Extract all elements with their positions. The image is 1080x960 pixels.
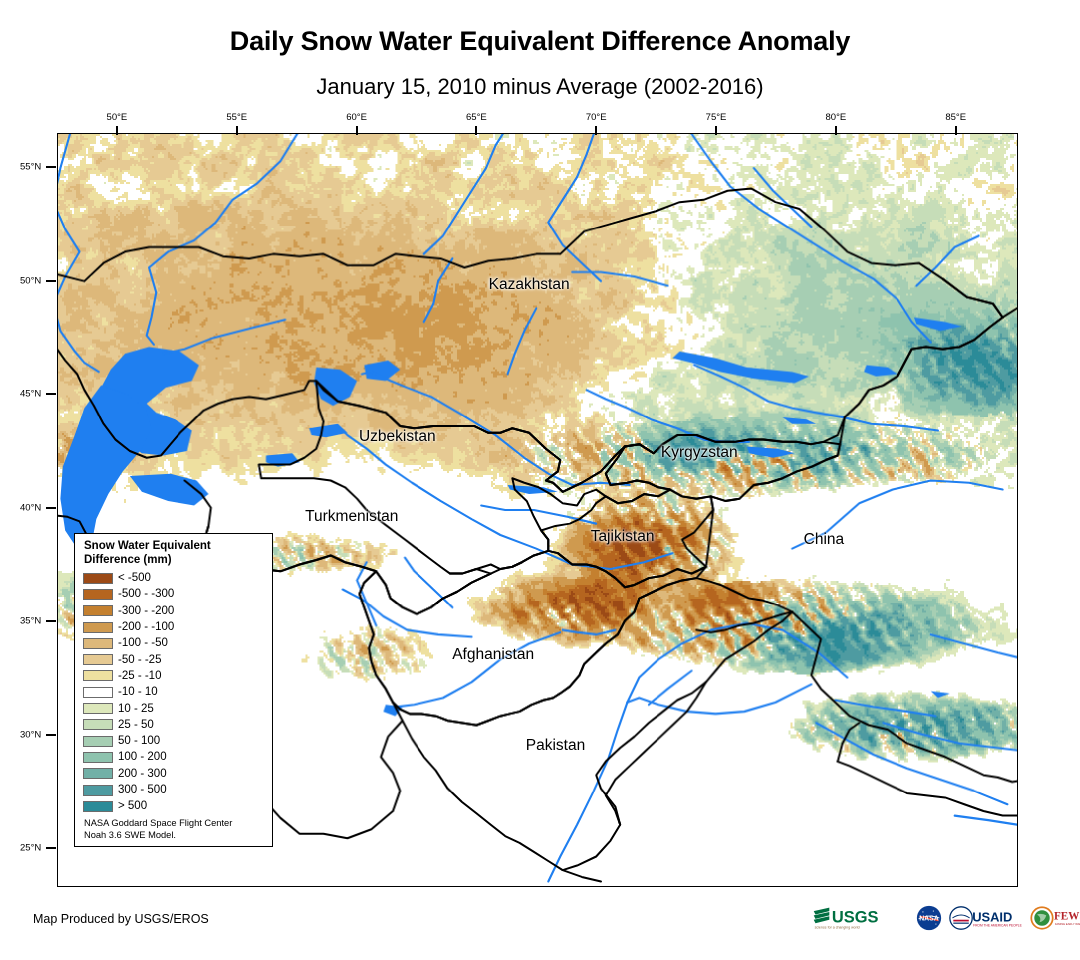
page-subtitle: January 15, 2010 minus Average (2002-201… <box>0 74 1080 100</box>
legend-title-line1: Snow Water Equivalent <box>84 540 265 554</box>
lat-label-50: 50°N <box>20 275 41 286</box>
fewsnet-logo: FEWS NET FAMINE EARLY WARNING SYSTEMS NE… <box>1030 905 1080 931</box>
legend-footnote-line2: Noah 3.6 SWE Model. <box>84 830 265 842</box>
legend-swatch <box>83 589 113 600</box>
svg-text:FEWS NET: FEWS NET <box>1054 911 1080 923</box>
legend-swatch <box>83 719 113 730</box>
nasa-logo: NASA <box>916 905 942 931</box>
svg-text:FAMINE EARLY WARNING SYSTEMS N: FAMINE EARLY WARNING SYSTEMS NETWORK <box>1055 922 1080 926</box>
legend-row: -50 - -25 <box>83 651 265 667</box>
lat-tick-30 <box>46 734 56 736</box>
legend-label: -300 - -200 <box>118 605 174 617</box>
lon-label-50: 50°E <box>107 112 128 123</box>
usaid-logo: USAID FROM THE AMERICAN PEOPLE <box>949 905 1023 931</box>
legend-swatch <box>83 622 113 633</box>
svg-text:USAID: USAID <box>972 909 1012 924</box>
lon-tick-85 <box>955 126 957 135</box>
legend-swatch <box>83 573 113 584</box>
lon-label-65: 65°E <box>466 112 487 123</box>
lat-tick-50 <box>46 280 56 282</box>
lat-label-35: 35°N <box>20 616 41 627</box>
legend-label: -200 - -100 <box>118 621 174 633</box>
legend-swatch <box>83 703 113 714</box>
lat-tick-55 <box>46 166 56 168</box>
legend-swatch <box>83 768 113 779</box>
lat-tick-40 <box>46 507 56 509</box>
legend-row: 300 - 500 <box>83 782 265 798</box>
legend-label: -25 - -10 <box>118 670 161 682</box>
lon-label-55: 55°E <box>226 112 247 123</box>
legend-swatch <box>83 654 113 665</box>
producer-credit: Map Produced by USGS/EROS <box>33 912 209 926</box>
legend-label: > 500 <box>118 800 147 812</box>
legend-footnote-line1: NASA Goddard Space Flight Center <box>84 818 265 830</box>
legend-footnote: NASA Goddard Space Flight Center Noah 3.… <box>84 818 265 841</box>
lat-label-40: 40°N <box>20 502 41 513</box>
legend-label: -10 - 10 <box>118 686 158 698</box>
legend-row: 10 - 25 <box>83 700 265 716</box>
agency-logo-row: USGS science for a changing world NASA U… <box>812 903 1080 933</box>
legend-title-line2: Difference (mm) <box>84 554 265 568</box>
lon-tick-65 <box>475 126 477 135</box>
lat-tick-25 <box>46 847 56 849</box>
lon-label-85: 85°E <box>945 112 966 123</box>
svg-text:NASA: NASA <box>919 916 939 923</box>
lat-label-45: 45°N <box>20 389 41 400</box>
legend-row: -10 - 10 <box>83 684 265 700</box>
legend-swatch <box>83 638 113 649</box>
legend-swatch <box>83 736 113 747</box>
legend-row: -25 - -10 <box>83 668 265 684</box>
lat-tick-35 <box>46 620 56 622</box>
legend-swatch <box>83 801 113 812</box>
legend-label: 200 - 300 <box>118 768 167 780</box>
legend-row: -500 - -300 <box>83 586 265 602</box>
legend-row: 50 - 100 <box>83 733 265 749</box>
legend-class-list: < -500-500 - -300-300 - -200-200 - -100-… <box>83 570 265 814</box>
lon-tick-75 <box>715 126 717 135</box>
lon-label-80: 80°E <box>826 112 847 123</box>
lon-tick-80 <box>835 126 837 135</box>
legend-row: -100 - -50 <box>83 635 265 651</box>
page-title: Daily Snow Water Equivalent Difference A… <box>0 26 1080 57</box>
lat-tick-45 <box>46 393 56 395</box>
legend-label: 25 - 50 <box>118 719 154 731</box>
legend-label: -500 - -300 <box>118 588 174 600</box>
legend-label: < -500 <box>118 572 151 584</box>
legend-row: 25 - 50 <box>83 717 265 733</box>
legend-label: 10 - 25 <box>118 703 154 715</box>
legend-panel: Snow Water Equivalent Difference (mm) < … <box>74 533 273 847</box>
legend-swatch <box>83 687 113 698</box>
legend-row: -200 - -100 <box>83 619 265 635</box>
legend-label: 100 - 200 <box>118 751 167 763</box>
lon-tick-50 <box>116 126 118 135</box>
lon-label-75: 75°E <box>706 112 727 123</box>
legend-row: -300 - -200 <box>83 603 265 619</box>
lat-label-55: 55°N <box>20 162 41 173</box>
legend-label: 50 - 100 <box>118 735 160 747</box>
lon-label-70: 70°E <box>586 112 607 123</box>
lon-tick-70 <box>595 126 597 135</box>
svg-text:USGS: USGS <box>832 908 879 926</box>
legend-row: 100 - 200 <box>83 749 265 765</box>
legend-row: > 500 <box>83 798 265 814</box>
svg-text:science for a changing world: science for a changing world <box>815 925 860 929</box>
svg-text:FROM THE AMERICAN PEOPLE: FROM THE AMERICAN PEOPLE <box>973 924 1023 928</box>
lon-tick-55 <box>236 126 238 135</box>
legend-label: 300 - 500 <box>118 784 167 796</box>
legend-swatch <box>83 605 113 616</box>
legend-swatch <box>83 752 113 763</box>
usgs-logo: USGS science for a changing world <box>812 905 909 931</box>
lat-label-30: 30°N <box>20 729 41 740</box>
legend-row: 200 - 300 <box>83 766 265 782</box>
legend-swatch <box>83 785 113 796</box>
legend-swatch <box>83 670 113 681</box>
legend-title: Snow Water Equivalent Difference (mm) <box>84 540 265 567</box>
lon-label-60: 60°E <box>346 112 367 123</box>
lon-tick-60 <box>356 126 358 135</box>
legend-label: -100 - -50 <box>118 637 168 649</box>
lat-label-25: 25°N <box>20 843 41 854</box>
legend-label: -50 - -25 <box>118 654 161 666</box>
legend-row: < -500 <box>83 570 265 586</box>
